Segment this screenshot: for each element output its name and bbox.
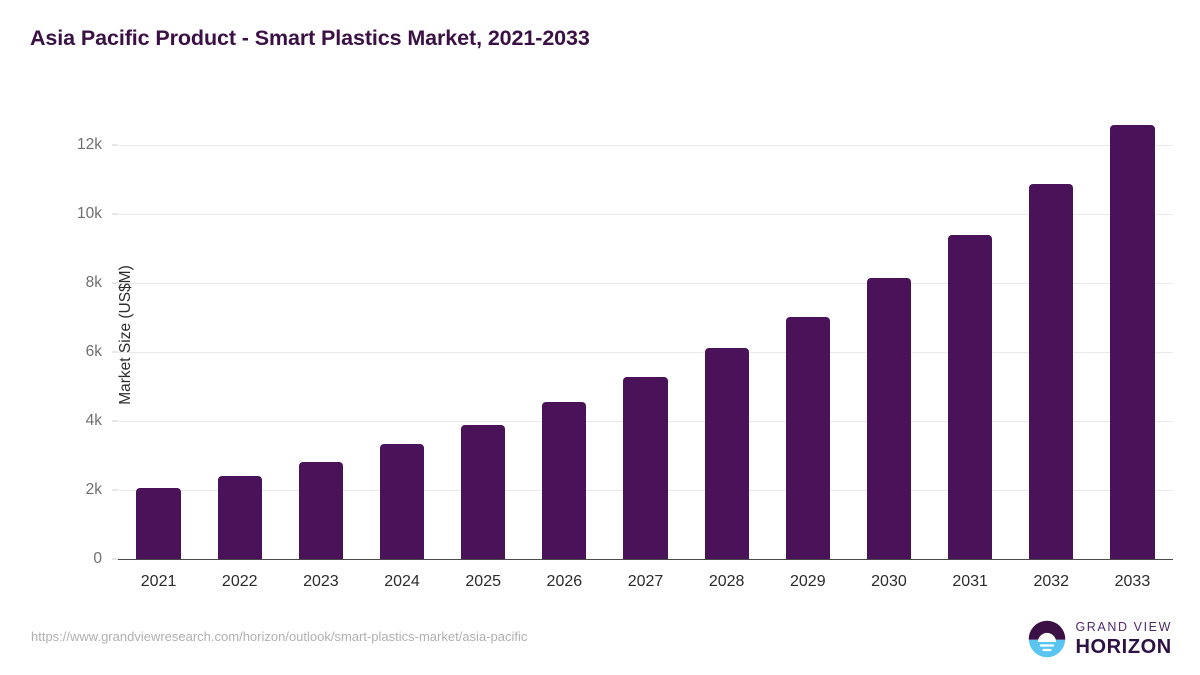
y-tick-label: 12k bbox=[77, 136, 102, 154]
x-axis-line bbox=[118, 559, 1173, 561]
plot-area: 02k4k6k8k10k12k 202120222023202420252026… bbox=[118, 111, 1173, 559]
x-tick-label-2029: 2029 bbox=[790, 573, 826, 591]
y-tick-label: 0 bbox=[93, 550, 102, 568]
x-tick-label-2032: 2032 bbox=[1033, 573, 1069, 591]
bar-2022[interactable] bbox=[218, 476, 262, 559]
grand-view-horizon-logo-icon bbox=[1028, 620, 1066, 658]
bar-2021[interactable] bbox=[136, 488, 180, 559]
x-tick-label-2030: 2030 bbox=[871, 573, 907, 591]
page-title: Asia Pacific Product - Smart Plastics Ma… bbox=[30, 26, 590, 51]
x-tick-label-2033: 2033 bbox=[1115, 573, 1151, 591]
logo-line-grand-view: GRAND VIEW bbox=[1075, 621, 1172, 634]
logo-line-horizon: HORIZON bbox=[1075, 637, 1172, 657]
x-tick-label-2022: 2022 bbox=[222, 573, 258, 591]
bar-2032[interactable] bbox=[1029, 184, 1073, 559]
x-tick-label-2021: 2021 bbox=[141, 573, 177, 591]
x-tick-label-2025: 2025 bbox=[465, 573, 501, 591]
bar-2026[interactable] bbox=[542, 402, 586, 559]
x-tick-label-2024: 2024 bbox=[384, 573, 420, 591]
x-tick-label-2023: 2023 bbox=[303, 573, 339, 591]
bar-2024[interactable] bbox=[380, 444, 424, 559]
y-tick-label: 4k bbox=[86, 412, 102, 430]
x-tick-label-2026: 2026 bbox=[547, 573, 583, 591]
bar-2033[interactable] bbox=[1110, 125, 1154, 559]
y-tick-label: 6k bbox=[86, 343, 102, 361]
bar-2028[interactable] bbox=[705, 348, 749, 559]
y-tick-label: 8k bbox=[86, 274, 102, 292]
x-tick-label-2028: 2028 bbox=[709, 573, 745, 591]
bar-2027[interactable] bbox=[623, 377, 667, 559]
chart-page: Asia Pacific Product - Smart Plastics Ma… bbox=[0, 0, 1200, 675]
bar-2029[interactable] bbox=[786, 317, 830, 559]
bar-2030[interactable] bbox=[867, 278, 911, 559]
x-tick-label-2031: 2031 bbox=[952, 573, 988, 591]
y-axis-title: Market Size (US$M) bbox=[117, 265, 135, 405]
source-url-text[interactable]: https://www.grandviewresearch.com/horizo… bbox=[31, 629, 527, 644]
x-tick-label-2027: 2027 bbox=[628, 573, 664, 591]
logo-wordmark: GRAND VIEW HORIZON bbox=[1075, 621, 1172, 657]
y-tick-label: 10k bbox=[77, 205, 102, 223]
bar-2023[interactable] bbox=[299, 462, 343, 559]
bar-2025[interactable] bbox=[461, 425, 505, 559]
bar-series bbox=[118, 111, 1173, 559]
y-tick-label: 2k bbox=[86, 481, 102, 499]
bar-2031[interactable] bbox=[948, 235, 992, 559]
brand-logo: GRAND VIEW HORIZON bbox=[1028, 620, 1172, 658]
